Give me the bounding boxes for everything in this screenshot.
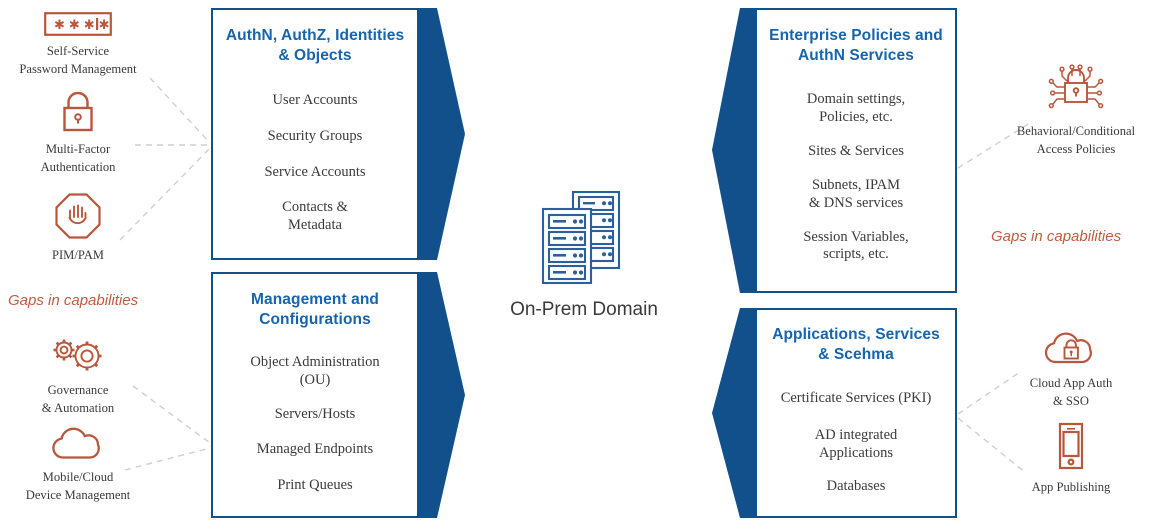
capability-multi-factor-auth[interactable]: Multi-Factor Authentication	[0, 88, 158, 176]
pillar-item: Contacts & Metadata	[223, 199, 407, 234]
capability-label: Mobile/Cloud Device Management	[26, 470, 131, 502]
pillar-item-list: User Accounts Security Groups Service Ac…	[223, 92, 407, 234]
pillar-management-configurations[interactable]: Management and Configurations Object Adm…	[211, 272, 419, 518]
capability-label: Behavioral/Conditional Access Policies	[1017, 124, 1135, 156]
pillar-title-line: AuthN Services	[763, 46, 949, 66]
pillar-item-label: AD integrated Applications	[815, 427, 898, 461]
password-field-icon: ✱✱✱✱	[0, 12, 158, 36]
svg-text:✱✱✱✱: ✱✱✱✱	[54, 17, 112, 32]
capability-self-service-password[interactable]: ✱✱✱✱ Self-Service Password Management	[0, 12, 158, 78]
capability-label: Governance & Automation	[42, 383, 114, 415]
pillar-item: Object Administration (OU)	[219, 354, 411, 389]
pillar-title-line: Applications, Services	[761, 325, 951, 345]
smart-lock-circuit-icon	[996, 60, 1156, 116]
pillar-item: Databases	[761, 478, 951, 496]
pillar-item: Session Variables, scripts, etc.	[763, 229, 949, 264]
connector-self-service	[150, 78, 210, 143]
pillar-item: Certificate Services (PKI)	[761, 390, 951, 408]
pillar-item-label: Service Accounts	[264, 164, 365, 180]
pillar-item-label: Session Variables, scripts, etc.	[803, 229, 908, 263]
pillar-item: Service Accounts	[223, 164, 407, 182]
pillar-title: Applications, Services & Scehma	[761, 325, 951, 364]
diagram-canvas: AuthN, AuthZ, Identities & Objects User …	[0, 0, 1170, 526]
server-rack-icon	[529, 188, 639, 288]
pillar-item-label: Servers/Hosts	[275, 406, 356, 422]
pillar-item-label: Managed Endpoints	[257, 441, 373, 457]
pillar-item: Domain settings, Policies, etc.	[763, 91, 949, 126]
pillar-item-label: Print Queues	[277, 477, 352, 493]
center-node-on-prem-domain[interactable]: On-Prem Domain	[464, 188, 704, 321]
pillar-item: Servers/Hosts	[219, 406, 411, 424]
pillar-authn-authz[interactable]: AuthN, AuthZ, Identities & Objects User …	[211, 8, 419, 260]
pillar-title-line: Enterprise Policies and	[763, 26, 949, 46]
pillar-item-label: Contacts & Metadata	[282, 199, 348, 233]
pillar-item-label: Object Administration (OU)	[250, 354, 379, 388]
pillar-item-label: Subnets, IPAM & DNS services	[809, 177, 903, 211]
pillar-title-line: AuthN, AuthZ, Identities	[223, 26, 407, 46]
capability-app-publishing[interactable]: App Publishing	[991, 422, 1151, 496]
pillar-item: User Accounts	[223, 92, 407, 110]
pillar-item: Sites & Services	[763, 143, 949, 161]
pillar-title-line: & Scehma	[761, 345, 951, 365]
cloud-lock-icon	[991, 328, 1151, 368]
pillar-item-label: Databases	[827, 478, 886, 494]
pillar-enterprise-policies[interactable]: Enterprise Policies and AuthN Services D…	[755, 8, 957, 293]
pillar-applications-services[interactable]: Applications, Services & Scehma Certific…	[755, 308, 957, 518]
pillar-item-label: Security Groups	[268, 128, 363, 144]
mobile-device-icon	[991, 422, 1151, 472]
pillar-item: Security Groups	[223, 128, 407, 146]
pillar-item-list: Object Administration (OU) Servers/Hosts…	[219, 354, 411, 494]
pillar-item: Print Queues	[219, 477, 411, 495]
pillar-title-line: Configurations	[219, 310, 411, 330]
pillar-item-label: Sites & Services	[808, 143, 904, 159]
capability-cloud-app-auth-sso[interactable]: Cloud App Auth & SSO	[991, 328, 1151, 410]
pillar-item-label: Certificate Services (PKI)	[781, 390, 932, 406]
pillar-item: AD integrated Applications	[761, 427, 951, 462]
pillar-title-line: & Objects	[223, 46, 407, 66]
capability-behavioral-conditional-access[interactable]: Behavioral/Conditional Access Policies	[996, 60, 1156, 158]
capability-label: Cloud App Auth & SSO	[1030, 376, 1113, 408]
pillar-item-label: Domain settings, Policies, etc.	[807, 91, 905, 125]
capability-pim-pam[interactable]: PIM/PAM	[0, 192, 158, 264]
capability-governance-automation[interactable]: Governance & Automation	[0, 333, 158, 417]
pillar-title-line: Management and	[219, 290, 411, 310]
capability-label: App Publishing	[1032, 480, 1111, 494]
pillar-title: Management and Configurations	[219, 290, 411, 329]
pillar-title: AuthN, AuthZ, Identities & Objects	[223, 26, 407, 65]
pillar-item-list: Certificate Services (PKI) AD integrated…	[761, 390, 951, 496]
capability-mobile-cloud-device-management[interactable]: Mobile/Cloud Device Management	[0, 424, 158, 504]
gaps-label-right: Gaps in capabilities	[991, 228, 1121, 245]
capability-label: PIM/PAM	[52, 248, 104, 262]
pillar-item-label: User Accounts	[273, 92, 358, 108]
gears-icon	[0, 333, 158, 375]
pillar-item: Managed Endpoints	[219, 441, 411, 459]
pillar-item-list: Domain settings, Policies, etc. Sites & …	[763, 91, 949, 264]
capability-label: Multi-Factor Authentication	[41, 142, 116, 174]
pillar-title: Enterprise Policies and AuthN Services	[763, 26, 949, 65]
stop-hand-icon	[0, 192, 158, 240]
pillar-item: Subnets, IPAM & DNS services	[763, 177, 949, 212]
gaps-label-left: Gaps in capabilities	[8, 292, 138, 309]
capability-label: Self-Service Password Management	[19, 44, 136, 76]
center-node-label: On-Prem Domain	[464, 299, 704, 321]
padlock-icon	[0, 88, 158, 134]
cloud-icon	[0, 424, 158, 462]
